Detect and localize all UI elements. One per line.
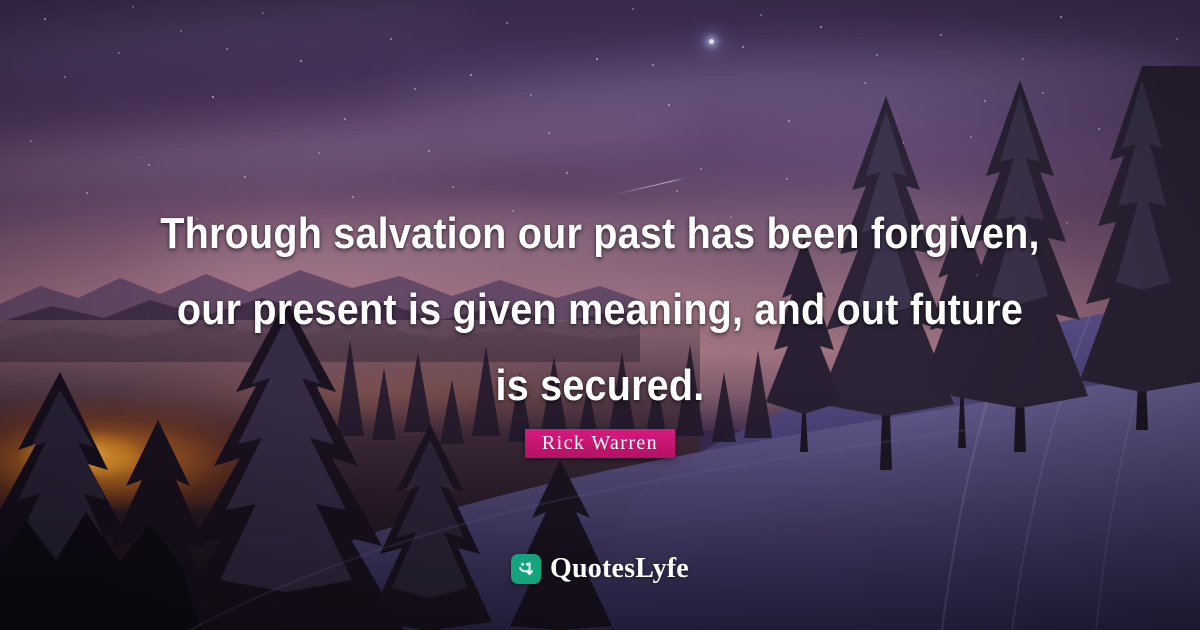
quote-text-block: Through salvation our past has been forg…: [0, 196, 1200, 424]
quote-line-2: our present is given meaning, and out fu…: [60, 272, 1140, 348]
quote-card: Through salvation our past has been forg…: [0, 0, 1200, 630]
logo-inner: QuotesLyfe: [511, 553, 689, 585]
author-name-badge[interactable]: Rick Warren: [525, 429, 675, 458]
author-attribution: Rick Warren: [0, 429, 1200, 458]
quote-line-3: is secured.: [60, 348, 1140, 424]
quote-line-1: Through salvation our past has been forg…: [60, 196, 1140, 272]
quote-mark-icon: [511, 554, 541, 584]
brand-logo[interactable]: QuotesLyfe: [0, 553, 1200, 585]
brand-name: QuotesLyfe: [550, 553, 689, 585]
